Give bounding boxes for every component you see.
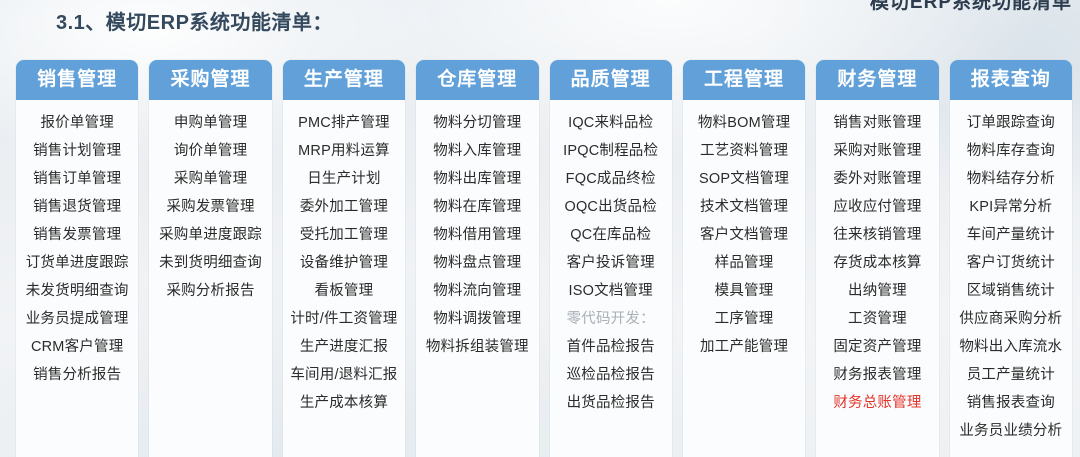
page-title: 3.1、模切ERP系统功能清单：: [56, 6, 333, 35]
module-item[interactable]: KPI异常分析: [950, 193, 1072, 221]
module-item[interactable]: 物料拆组装管理: [416, 333, 538, 361]
module-item[interactable]: 技术文档管理: [683, 193, 805, 221]
module-item[interactable]: 业务员业绩分析: [950, 417, 1072, 445]
module-item[interactable]: 销售对账管理: [816, 109, 938, 137]
module-column-header[interactable]: 采购管理: [149, 60, 271, 100]
module-column-header[interactable]: 工程管理: [683, 60, 805, 100]
module-item[interactable]: 采购单进度跟踪: [149, 221, 271, 249]
module-column-header[interactable]: 生产管理: [283, 60, 405, 100]
module-item[interactable]: 工资管理: [816, 305, 938, 333]
module-item[interactable]: 区域销售统计: [950, 277, 1072, 305]
module-item-list: 申购单管理询价单管理采购单管理采购发票管理采购单进度跟踪未到货明细查询采购分析报…: [149, 100, 271, 457]
module-item[interactable]: 固定资产管理: [816, 333, 938, 361]
module-item[interactable]: 销售计划管理: [16, 137, 138, 165]
module-item[interactable]: PMC排产管理: [283, 109, 405, 137]
module-item[interactable]: 采购对账管理: [816, 137, 938, 165]
module-item[interactable]: 应收应付管理: [816, 193, 938, 221]
module-item[interactable]: 物料盘点管理: [416, 249, 538, 277]
module-item[interactable]: 销售报表查询: [950, 389, 1072, 417]
module-item[interactable]: 车间用/退料汇报: [283, 361, 405, 389]
module-item[interactable]: 客户投诉管理: [550, 249, 672, 277]
module-item[interactable]: 物料入库管理: [416, 137, 538, 165]
module-column: 财务管理销售对账管理采购对账管理委外对账管理应收应付管理往来核销管理存货成本核算…: [816, 60, 938, 457]
module-item[interactable]: 申购单管理: [149, 109, 271, 137]
module-item-list: 报价单管理销售计划管理销售订单管理销售退货管理销售发票管理订货单进度跟踪未发货明…: [16, 100, 138, 457]
module-item[interactable]: 物料分切管理: [416, 109, 538, 137]
module-item[interactable]: 未到货明细查询: [149, 249, 271, 277]
module-item[interactable]: 销售发票管理: [16, 221, 138, 249]
module-item-list: 物料BOM管理工艺资料管理SOP文档管理技术文档管理客户文档管理样品管理模具管理…: [683, 100, 805, 457]
module-item-subheading: 零代码开发：: [550, 305, 672, 333]
module-item[interactable]: 委外加工管理: [283, 193, 405, 221]
module-item[interactable]: 物料结存分析: [950, 165, 1072, 193]
module-item[interactable]: 销售退货管理: [16, 193, 138, 221]
module-item[interactable]: OQC出货品检: [550, 193, 672, 221]
module-item[interactable]: 物料出库管理: [416, 165, 538, 193]
module-column: 销售管理报价单管理销售计划管理销售订单管理销售退货管理销售发票管理订货单进度跟踪…: [16, 60, 138, 457]
module-item[interactable]: 往来核销管理: [816, 221, 938, 249]
module-item[interactable]: 财务总账管理: [816, 389, 938, 417]
module-item-list: 订单跟踪查询物料库存查询物料结存分析KPI异常分析车间产量统计客户订货统计区域销…: [950, 100, 1072, 457]
module-item[interactable]: IPQC制程品检: [550, 137, 672, 165]
module-item[interactable]: 未发货明细查询: [16, 277, 138, 305]
module-item[interactable]: 员工产量统计: [950, 361, 1072, 389]
module-item[interactable]: 模具管理: [683, 277, 805, 305]
module-item[interactable]: 样品管理: [683, 249, 805, 277]
module-item[interactable]: 询价单管理: [149, 137, 271, 165]
module-column-header[interactable]: 财务管理: [816, 60, 938, 100]
function-list-board: 销售管理报价单管理销售计划管理销售订单管理销售退货管理销售发票管理订货单进度跟踪…: [16, 60, 1072, 457]
module-item[interactable]: 出货品检报告: [550, 389, 672, 417]
module-item[interactable]: 出纳管理: [816, 277, 938, 305]
module-item-list: 销售对账管理采购对账管理委外对账管理应收应付管理往来核销管理存货成本核算出纳管理…: [816, 100, 938, 457]
module-item[interactable]: 销售分析报告: [16, 361, 138, 389]
module-item[interactable]: 订货单进度跟踪: [16, 249, 138, 277]
module-item[interactable]: 物料BOM管理: [683, 109, 805, 137]
module-item-list: PMC排产管理MRP用料运算日生产计划委外加工管理受托加工管理设备维护管理看板管…: [283, 100, 405, 457]
module-item-list: IQC来料品检IPQC制程品检FQC成品终检OQC出货品检QC在库品检客户投诉管…: [550, 100, 672, 457]
module-item[interactable]: 工艺资料管理: [683, 137, 805, 165]
module-column: 报表查询订单跟踪查询物料库存查询物料结存分析KPI异常分析车间产量统计客户订货统…: [950, 60, 1072, 457]
module-item[interactable]: 设备维护管理: [283, 249, 405, 277]
module-column: 采购管理申购单管理询价单管理采购单管理采购发票管理采购单进度跟踪未到货明细查询采…: [149, 60, 271, 457]
module-item[interactable]: 计时/件工资管理: [283, 305, 405, 333]
module-item[interactable]: MRP用料运算: [283, 137, 405, 165]
module-column: 工程管理物料BOM管理工艺资料管理SOP文档管理技术文档管理客户文档管理样品管理…: [683, 60, 805, 457]
module-item[interactable]: 订单跟踪查询: [950, 109, 1072, 137]
module-item[interactable]: 报价单管理: [16, 109, 138, 137]
module-column-header[interactable]: 品质管理: [550, 60, 672, 100]
module-item[interactable]: 供应商采购分析: [950, 305, 1072, 333]
module-item[interactable]: 日生产计划: [283, 165, 405, 193]
module-item[interactable]: 加工产能管理: [683, 333, 805, 361]
module-item[interactable]: 工序管理: [683, 305, 805, 333]
module-item[interactable]: 物料调拨管理: [416, 305, 538, 333]
module-item[interactable]: 物料出入库流水: [950, 333, 1072, 361]
module-item[interactable]: 生产成本核算: [283, 389, 405, 417]
module-item-list: 物料分切管理物料入库管理物料出库管理物料在库管理物料借用管理物料盘点管理物料流向…: [416, 100, 538, 457]
module-item[interactable]: 物料流向管理: [416, 277, 538, 305]
module-item[interactable]: 财务报表管理: [816, 361, 938, 389]
module-column-header[interactable]: 销售管理: [16, 60, 138, 100]
module-item[interactable]: 采购分析报告: [149, 277, 271, 305]
module-item[interactable]: IQC来料品检: [550, 109, 672, 137]
module-item[interactable]: 物料在库管理: [416, 193, 538, 221]
module-column-header[interactable]: 报表查询: [950, 60, 1072, 100]
module-item[interactable]: SOP文档管理: [683, 165, 805, 193]
module-item[interactable]: 看板管理: [283, 277, 405, 305]
module-column: 品质管理IQC来料品检IPQC制程品检FQC成品终检OQC出货品检QC在库品检客…: [550, 60, 672, 457]
module-item[interactable]: ISO文档管理: [550, 277, 672, 305]
module-item[interactable]: 销售订单管理: [16, 165, 138, 193]
module-item[interactable]: 客户订货统计: [950, 249, 1072, 277]
module-item[interactable]: 首件品检报告: [550, 333, 672, 361]
module-column-header[interactable]: 仓库管理: [416, 60, 538, 100]
module-item[interactable]: 受托加工管理: [283, 221, 405, 249]
module-item[interactable]: FQC成品终检: [550, 165, 672, 193]
module-item[interactable]: 物料借用管理: [416, 221, 538, 249]
module-column: 生产管理PMC排产管理MRP用料运算日生产计划委外加工管理受托加工管理设备维护管…: [283, 60, 405, 457]
module-item[interactable]: 物料库存查询: [950, 137, 1072, 165]
corner-note-clipped: 模切ERP系统功能清单: [870, 0, 1072, 14]
module-item[interactable]: 采购单管理: [149, 165, 271, 193]
module-column: 仓库管理物料分切管理物料入库管理物料出库管理物料在库管理物料借用管理物料盘点管理…: [416, 60, 538, 457]
module-item[interactable]: 委外对账管理: [816, 165, 938, 193]
module-item[interactable]: 生产进度汇报: [283, 333, 405, 361]
module-item[interactable]: 车间产量统计: [950, 221, 1072, 249]
module-item[interactable]: CRM客户管理: [16, 333, 138, 361]
module-item[interactable]: 业务员提成管理: [16, 305, 138, 333]
module-item[interactable]: 采购发票管理: [149, 193, 271, 221]
module-item[interactable]: 存货成本核算: [816, 249, 938, 277]
module-item[interactable]: 客户文档管理: [683, 221, 805, 249]
module-item[interactable]: QC在库品检: [550, 221, 672, 249]
module-item[interactable]: 巡检品检报告: [550, 361, 672, 389]
